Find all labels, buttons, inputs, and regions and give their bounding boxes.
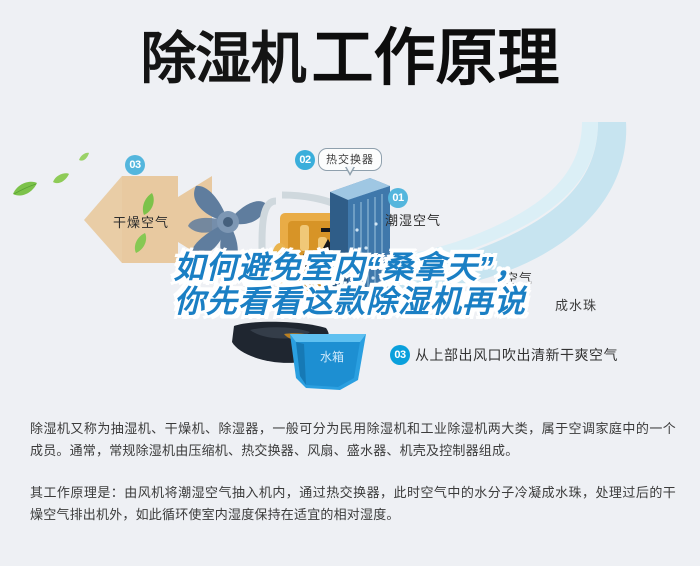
leaf-icon	[132, 232, 148, 254]
caption-step-03-text: 从上部出风口吹出清新干爽空气	[415, 345, 618, 365]
caption-step-03: 03 从上部出风口吹出清新干爽空气	[390, 345, 618, 365]
infographic-title: 除湿机工作原理	[0, 28, 700, 90]
article-body: 除湿机又称为抽湿机、干燥机、除湿器，一般可分为民用除湿机和工业除湿机两大类，属于…	[30, 418, 676, 526]
label-dry-air: 干燥空气	[113, 212, 169, 231]
label-air-fragment: 空气	[505, 268, 533, 287]
inflow-arrow-icon	[378, 289, 422, 307]
badge-03-dry-air: 03	[125, 155, 145, 175]
body-paragraph-2: 其工作原理是：由风机将潮湿空气抽入机内，通过热交换器，此时空气中的水分子冷凝成水…	[30, 482, 676, 526]
heat-exchanger-fins-graphic	[330, 178, 390, 303]
leaf-icon	[78, 152, 90, 162]
label-water-tank: 水箱	[320, 348, 344, 365]
body-paragraph-1: 除湿机又称为抽湿机、干燥机、除湿器，一般可分为民用除湿机和工业除湿机两大类，属于…	[30, 418, 676, 462]
infographic-image: 除湿机工作原理	[0, 0, 700, 402]
leaf-icon	[12, 180, 38, 198]
article-page: 除湿机工作原理	[0, 0, 700, 566]
badge-03-caption: 03	[390, 345, 410, 365]
title-part-working-principle: 工作原理	[311, 24, 559, 93]
title-part-dehumidifier: 除湿机	[140, 27, 305, 90]
label-humid-air: 潮湿空气	[385, 210, 441, 229]
leaf-icon	[52, 172, 70, 185]
callout-stem	[345, 167, 355, 176]
label-condense-fragment: 成水珠	[555, 295, 597, 314]
badge-02-heat-exchanger: 02	[295, 150, 315, 170]
badge-01-humid-air: 01	[388, 188, 408, 208]
